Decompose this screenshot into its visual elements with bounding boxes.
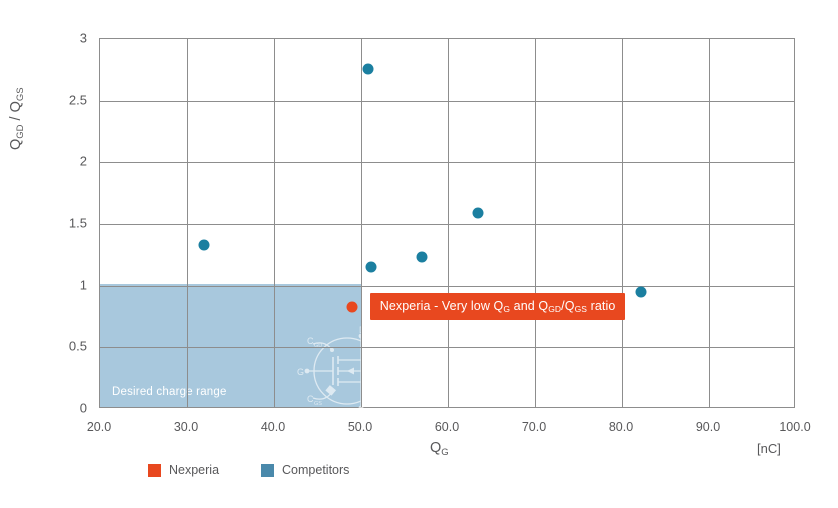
- x-axis-label-sub: G: [441, 447, 448, 458]
- svg-text:C: C: [307, 394, 314, 404]
- gridline-vertical: [709, 39, 710, 407]
- gridline-vertical: [448, 39, 449, 407]
- legend-item[interactable]: Competitors: [261, 463, 349, 477]
- legend-swatch-icon: [148, 464, 161, 477]
- y-axis-tick-label: 1.5: [47, 216, 87, 231]
- y-axis-label-q1: Q: [8, 139, 24, 150]
- svg-text:DS: DS: [393, 373, 401, 379]
- mosfet-symbol-icon: D S G C GD C GS C DS: [285, 322, 415, 420]
- y-axis-label-slash: /: [8, 112, 24, 124]
- legend-item[interactable]: Nexperia: [148, 463, 219, 477]
- y-axis-tick-label: 0: [47, 401, 87, 416]
- callout-suffix: ratio: [587, 299, 615, 313]
- callout-sub1: G: [503, 304, 510, 314]
- callout-prefix: Nexperia - Very low Q: [380, 299, 504, 313]
- gridline-horizontal: [100, 347, 794, 348]
- gridline-horizontal: [100, 224, 794, 225]
- legend-label: Nexperia: [169, 463, 219, 477]
- callout-sub3: GS: [575, 304, 587, 314]
- x-axis-tick-label: 60.0: [435, 420, 459, 434]
- x-axis-tick-label: 70.0: [522, 420, 546, 434]
- svg-text:GS: GS: [314, 401, 322, 407]
- y-axis-label-sub2: GS: [15, 87, 26, 101]
- x-axis-tick-label: 20.0: [87, 420, 111, 434]
- legend-label: Competitors: [282, 463, 349, 477]
- y-axis-tick-label: 1: [47, 277, 87, 292]
- nexperia-callout: Nexperia - Very low QG and QGD/QGS ratio: [370, 293, 626, 320]
- y-axis-tick-label: 0.5: [47, 339, 87, 354]
- x-axis-tick-label: 80.0: [609, 420, 633, 434]
- chart-container: QGD / QGS 00.511.522.53 20.030.040.050.0…: [0, 0, 838, 508]
- gridline-vertical: [535, 39, 536, 407]
- callout-slash: /Q: [561, 299, 574, 313]
- y-axis-tick-label: 2.5: [47, 92, 87, 107]
- gridline-horizontal: [100, 162, 794, 163]
- svg-text:C: C: [386, 366, 393, 376]
- legend-swatch-icon: [261, 464, 274, 477]
- x-axis-tick-label: 90.0: [696, 420, 720, 434]
- x-axis-label-q: Q: [430, 440, 441, 456]
- y-axis-label-sub1: GD: [15, 124, 26, 138]
- legend: NexperiaCompetitors: [148, 463, 349, 477]
- x-axis-tick-label: 40.0: [261, 420, 285, 434]
- x-axis-label: QG: [430, 440, 449, 456]
- data-point-competitors[interactable]: [636, 286, 647, 297]
- data-point-nexperia[interactable]: [347, 301, 358, 312]
- x-axis-unit: [nC]: [757, 441, 781, 456]
- y-axis-label: QGD / QGS: [8, 87, 24, 150]
- svg-text:G: G: [297, 367, 304, 377]
- gridline-vertical: [274, 39, 275, 407]
- svg-text:C: C: [307, 336, 314, 346]
- svg-text:S: S: [359, 411, 365, 420]
- data-point-competitors[interactable]: [199, 239, 210, 250]
- data-point-competitors[interactable]: [366, 262, 377, 273]
- plot-area: Desired charge range: [99, 38, 795, 408]
- y-axis-label-q2: Q: [8, 101, 24, 112]
- gridline-vertical: [187, 39, 188, 407]
- data-point-competitors[interactable]: [416, 252, 427, 263]
- callout-mid: and Q: [510, 299, 548, 313]
- x-axis-tick-label: 100.0: [779, 420, 810, 434]
- x-axis-tick-label: 50.0: [348, 420, 372, 434]
- y-axis-tick-label: 2: [47, 154, 87, 169]
- gridline-vertical: [361, 39, 362, 407]
- data-point-competitors[interactable]: [362, 63, 373, 74]
- gridline-horizontal: [100, 286, 794, 287]
- data-point-competitors[interactable]: [473, 207, 484, 218]
- gridline-horizontal: [100, 101, 794, 102]
- callout-sub2: GD: [548, 304, 561, 314]
- gridline-vertical: [622, 39, 623, 407]
- x-axis-tick-label: 30.0: [174, 420, 198, 434]
- y-axis-tick-label: 3: [47, 31, 87, 46]
- desired-charge-range-label: Desired charge range: [112, 386, 227, 398]
